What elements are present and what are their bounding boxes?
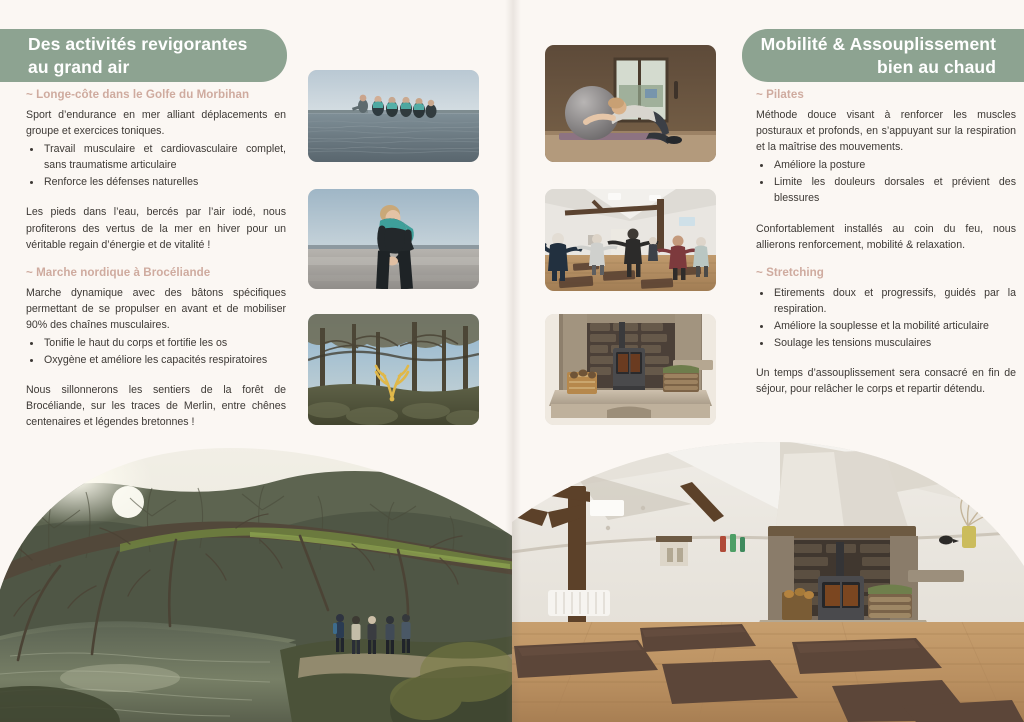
spacer (756, 208, 1016, 221)
photo-pilates-ballon (545, 45, 716, 162)
section-intro: Marche dynamique avec des bâtons spécifi… (26, 285, 286, 333)
photo-foret-broceliande-bois-de-cerf (308, 314, 479, 425)
section-longe-cote: ~ Longe-côte dans le Golfe du Morbihan S… (26, 88, 286, 253)
right-banner-line1: Mobilité & Assouplissement (742, 33, 996, 55)
section-bullets: Etirements doux et progressifs, guidés p… (756, 285, 1016, 351)
spacer (756, 253, 1016, 266)
section-outro: Les pieds dans l’eau, bercés par l’air i… (26, 204, 286, 252)
section-heading: ~ Marche nordique à Brocéliande (26, 266, 286, 279)
section-outro: Un temps d’assouplissement sera consacré… (756, 365, 1016, 397)
section-bullets: Tonifie le haut du corps et fortifie les… (26, 335, 286, 368)
section-heading: ~ Stretching (756, 266, 1016, 279)
section-outro: Confortablement installés au coin du feu… (756, 221, 1016, 253)
spacer (26, 191, 286, 204)
section-heading: ~ Longe-côte dans le Golfe du Morbihan (26, 88, 286, 101)
section-intro: Méthode douce visant à renforcer les mus… (756, 107, 1016, 155)
list-item: Tonifie le haut du corps et fortifie les… (42, 335, 286, 351)
spacer (26, 369, 286, 382)
brochure-page: Des activités revigorantes au grand air … (0, 0, 1024, 722)
list-item: Renforce les défenses naturelles (42, 174, 286, 190)
spacer (756, 352, 1016, 365)
photo-longe-cote-groupe-en-mer (308, 70, 479, 162)
section-pilates: ~ Pilates Méthode douce visant à renforc… (756, 88, 1016, 253)
photo-randonneurs-etang-foret (0, 440, 512, 722)
list-item: Etirements doux et progressifs, guidés p… (772, 285, 1016, 317)
right-text-column: ~ Pilates Méthode douce visant à renforc… (756, 88, 1016, 397)
left-banner-line2: au grand air (28, 56, 287, 78)
photo-cours-collectif-salle (545, 189, 716, 291)
photo-femme-combinaison-plage (308, 189, 479, 289)
section-outro: Nous sillonnerons les sentiers de la for… (26, 382, 286, 430)
section-marche-nordique: ~ Marche nordique à Brocéliande Marche d… (26, 266, 286, 431)
photo-cheminee-poele-a-bois (545, 314, 716, 425)
right-panel-banner: Mobilité & Assouplissement bien au chaud (742, 29, 1024, 82)
list-item: Travail musculaire et cardiovasculaire c… (42, 141, 286, 173)
section-intro: Sport d’endurance en mer alliant déplace… (26, 107, 286, 139)
section-heading: ~ Pilates (756, 88, 1016, 101)
section-bullets: Améliore la posture Limite les douleurs … (756, 157, 1016, 206)
left-text-column: ~ Longe-côte dans le Golfe du Morbihan S… (26, 88, 286, 431)
list-item: Améliore la souplesse et la mobilité art… (772, 318, 1016, 334)
list-item: Limite les douleurs dorsales et prévient… (772, 174, 1016, 206)
list-item: Soulage les tensions musculaires (772, 335, 1016, 351)
list-item: Améliore la posture (772, 157, 1016, 173)
section-bullets: Travail musculaire et cardiovasculaire c… (26, 141, 286, 190)
photo-salle-yoga-cheminee (512, 440, 1024, 722)
left-banner-line1: Des activités revigorantes (28, 33, 287, 55)
right-banner-line2: bien au chaud (742, 56, 996, 78)
section-stretching: ~ Stretching Etirements doux et progress… (756, 266, 1016, 398)
list-item: Oxygène et améliore les capacités respir… (42, 352, 286, 368)
left-panel-banner: Des activités revigorantes au grand air (0, 29, 287, 82)
spacer (26, 253, 286, 266)
